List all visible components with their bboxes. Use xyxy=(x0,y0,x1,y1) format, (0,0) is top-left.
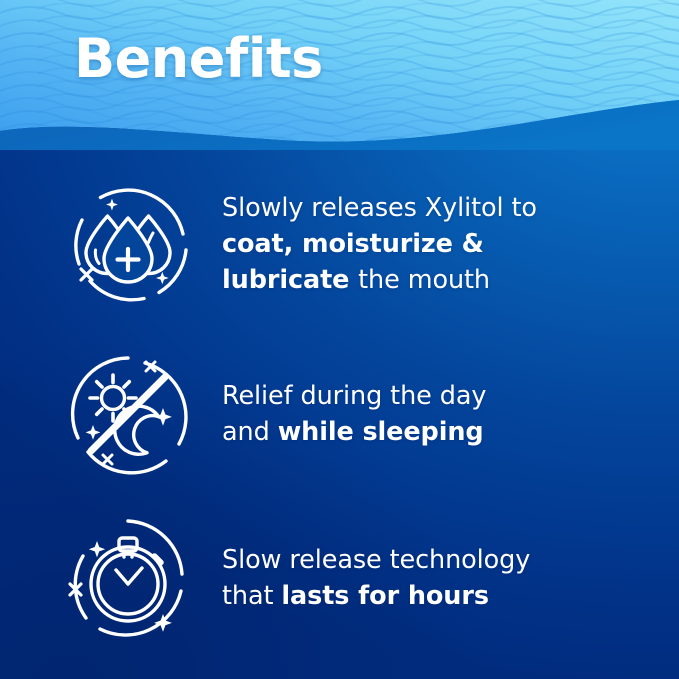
benefit-text-3: Slow release technologythat lasts for ho… xyxy=(222,542,642,614)
benefit-item-3: Slow release technologythat lasts for ho… xyxy=(62,512,642,644)
benefit-text-emphasis: while sleeping xyxy=(278,417,484,447)
benefit-text-line: Relief during the day xyxy=(222,378,642,414)
stopwatch-timer-icon xyxy=(62,512,194,644)
benefit-text-line: coat, moisturize & xyxy=(222,226,642,262)
water-droplets-plus-icon xyxy=(62,178,194,310)
benefit-item-1: Slowly releases Xylitol tocoat, moisturi… xyxy=(62,178,642,310)
benefit-item-2: Relief during the dayand while sleeping xyxy=(62,348,642,480)
benefit-text-2: Relief during the dayand while sleeping xyxy=(222,378,642,450)
benefit-text-emphasis: coat, moisturize & xyxy=(222,229,484,259)
benefit-text-emphasis: lasts for hours xyxy=(281,581,489,611)
benefit-text-line: Slow release technology xyxy=(222,542,642,578)
benefit-text-run: and xyxy=(222,417,278,447)
benefit-text-emphasis: lubricate xyxy=(222,265,358,295)
benefit-text-line: that lasts for hours xyxy=(222,578,642,614)
benefit-text-run: the mouth xyxy=(358,265,490,295)
benefit-text-run: Relief during the day xyxy=(222,381,486,411)
benefit-text-line: lubricate the mouth xyxy=(222,262,642,298)
benefit-text-run: Slowly releases Xylitol to xyxy=(222,193,537,223)
benefit-text-1: Slowly releases Xylitol tocoat, moisturi… xyxy=(222,190,642,299)
benefit-text-run: Slow release technology xyxy=(222,545,530,575)
sun-moon-day-night-icon xyxy=(62,348,194,480)
benefit-text-run: that xyxy=(222,581,281,611)
benefits-list: Slowly releases Xylitol tocoat, moisturi… xyxy=(0,0,679,679)
benefits-infographic: Benefits xyxy=(0,0,679,679)
benefit-text-line: and while sleeping xyxy=(222,414,642,450)
benefit-text-line: Slowly releases Xylitol to xyxy=(222,190,642,226)
